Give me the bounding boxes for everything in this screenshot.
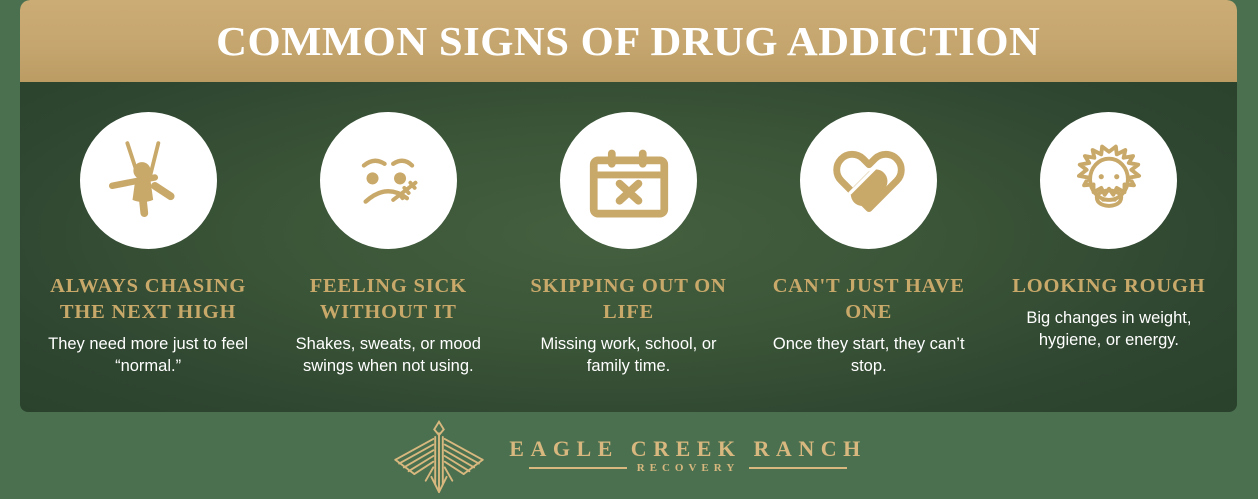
- logo-rule-right: [749, 467, 847, 469]
- sign-column-1: ALWAYS CHASING THE NEXT HIGH They need m…: [28, 82, 268, 378]
- disheveled-face-icon: [1040, 112, 1177, 249]
- calendar-x-icon: [560, 112, 697, 249]
- sign-title-4: CAN'T JUST HAVE ONE: [757, 273, 981, 325]
- sign-title-3: SKIPPING OUT ON LIFE: [516, 273, 740, 325]
- signs-row: ALWAYS CHASING THE NEXT HIGH They need m…: [20, 82, 1237, 412]
- logo-tagline-row: RECOVERY: [529, 463, 847, 474]
- person-on-swing-icon: [80, 112, 217, 249]
- logo-wordmark: EAGLE CREEK RANCH RECOVERY: [509, 438, 866, 474]
- sick-face-thermometer-icon: [320, 112, 457, 249]
- sign-description-3: Missing work, school, or family time.: [521, 334, 736, 378]
- sign-column-2: FEELING SICK WITHOUT IT Shakes, sweats, …: [268, 82, 508, 378]
- sign-title-2: FEELING SICK WITHOUT IT: [276, 273, 500, 325]
- sign-description-4: Once they start, they can’t stop.: [761, 334, 976, 378]
- logo-tagline: RECOVERY: [637, 463, 740, 474]
- eagle-logo-icon: [391, 418, 487, 494]
- infographic-card: COMMON SIGNS OF DRUG ADDICTION: [20, 0, 1237, 412]
- logo-name: EAGLE CREEK RANCH: [509, 438, 866, 460]
- sign-column-3: SKIPPING OUT ON LIFE Missing work, schoo…: [508, 82, 748, 378]
- page-title: COMMON SIGNS OF DRUG ADDICTION: [216, 21, 1040, 62]
- sign-description-1: They need more just to feel “normal.”: [41, 334, 256, 378]
- sign-column-4: CAN'T JUST HAVE ONE Once they start, the…: [749, 82, 989, 378]
- pills-heart-icon: [800, 112, 937, 249]
- sign-title-1: ALWAYS CHASING THE NEXT HIGH: [36, 273, 260, 325]
- infographic-page: COMMON SIGNS OF DRUG ADDICTION: [0, 0, 1258, 499]
- sign-column-5: LOOKING ROUGH Big changes in weight, hyg…: [989, 82, 1229, 352]
- sign-description-2: Shakes, sweats, or mood swings when not …: [281, 334, 496, 378]
- logo-rule-left: [529, 467, 627, 469]
- sign-description-5: Big changes in weight, hygiene, or energ…: [1001, 308, 1216, 352]
- sign-title-5: LOOKING ROUGH: [1012, 273, 1205, 299]
- header-band: COMMON SIGNS OF DRUG ADDICTION: [20, 0, 1237, 82]
- brand-logo: EAGLE CREEK RANCH RECOVERY: [0, 412, 1258, 499]
